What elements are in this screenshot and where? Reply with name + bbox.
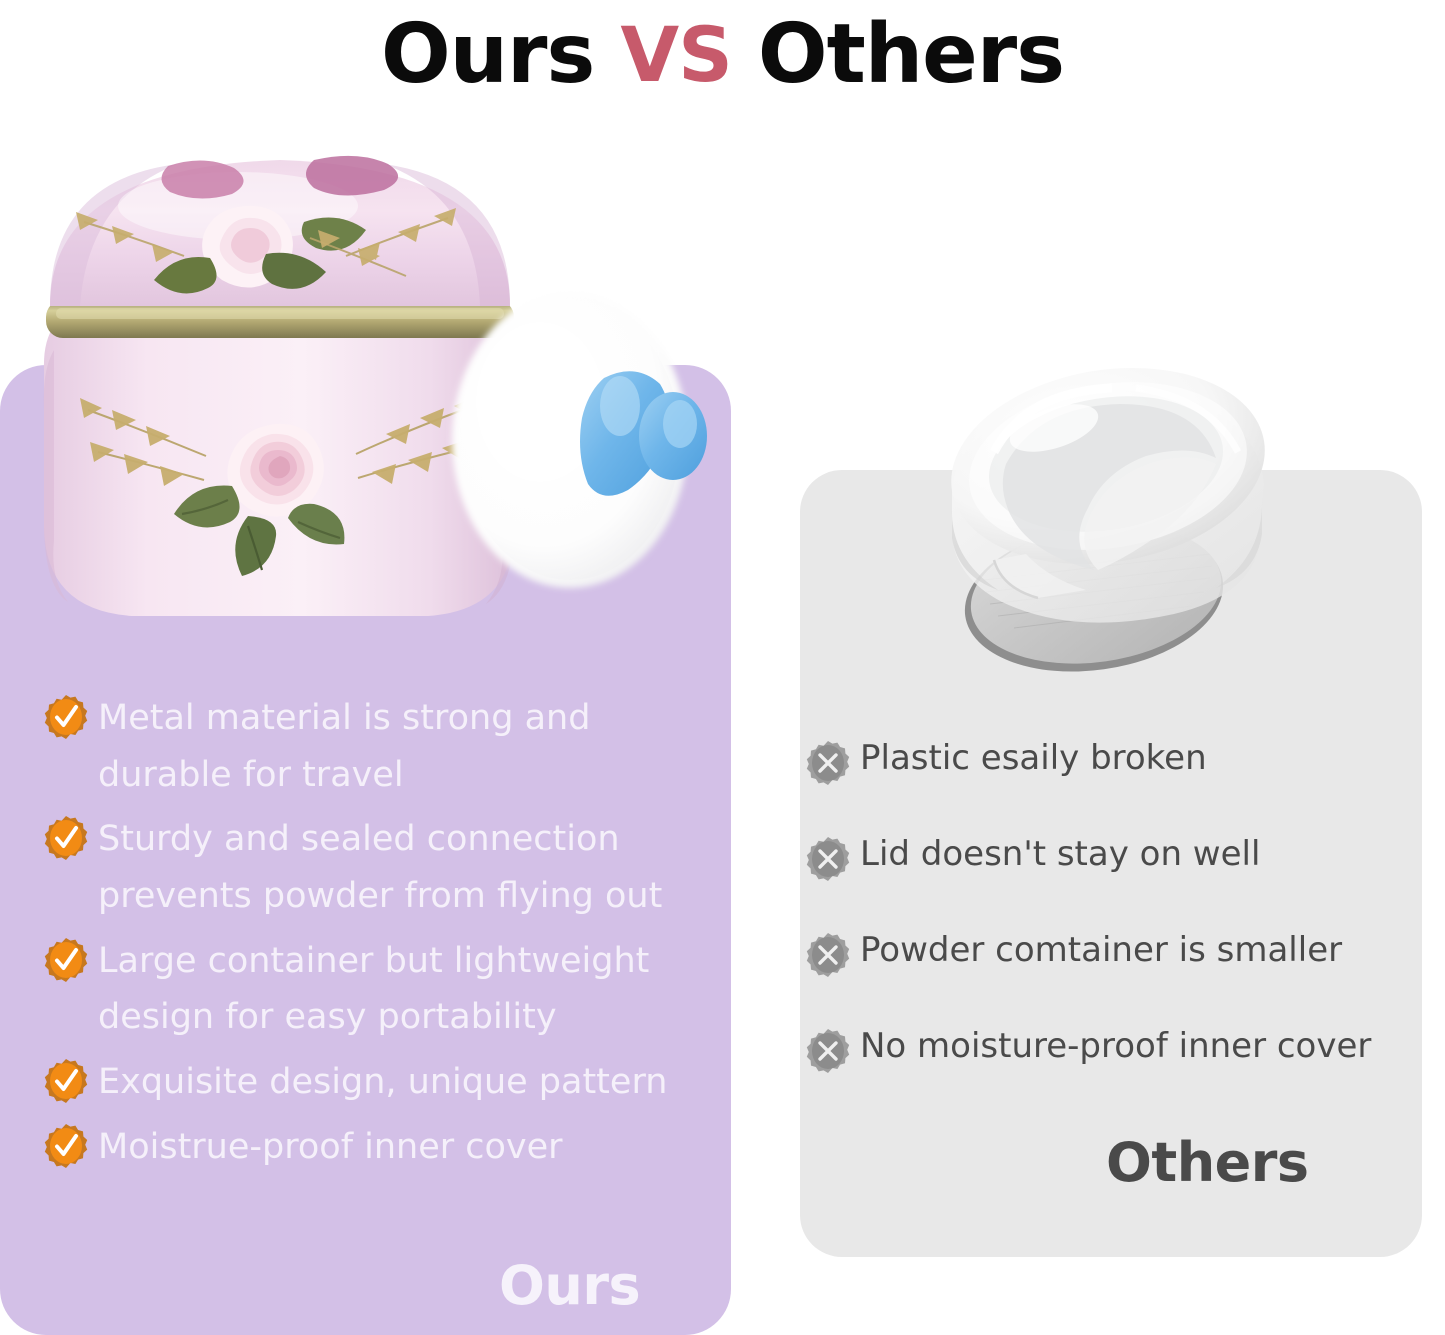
ours-brand-label: Ours [499,1254,640,1317]
cross-badge-icon [806,740,850,786]
product-image-others [898,348,1310,688]
list-item-label: Plastic esaily broken [860,736,1207,777]
list-item: Sturdy and sealed connection prevents po… [44,811,704,924]
title-word-others: Others [758,14,1064,96]
list-item-label: Sturdy and sealed connection prevents po… [98,811,662,924]
list-item: Lid doesn't stay on well [806,832,1406,882]
title-word-ours: Ours [381,14,594,96]
cross-badge-icon [806,1028,850,1074]
list-item-label: Lid doesn't stay on well [860,832,1260,873]
list-item-label: Exquisite design, unique pattern [98,1054,667,1111]
check-badge-icon [44,1058,88,1104]
cross-badge-icon [806,932,850,978]
list-item: Powder comtainer is smaller [806,928,1406,978]
list-item-label: No moisture-proof inner cover [860,1024,1371,1065]
list-item-label: Large container but lightweight design f… [98,933,649,1046]
others-feature-list: Plastic esaily broken Lid doesn't stay o… [806,736,1406,1120]
check-badge-icon [44,1123,88,1169]
list-item: Metal material is strong and durable for… [44,690,704,803]
list-item: Exquisite design, unique pattern [44,1054,704,1111]
list-item: Large container but lightweight design f… [44,933,704,1046]
title-word-vs: VS [620,17,732,93]
ours-feature-list: Metal material is strong and durable for… [44,690,704,1184]
others-brand-label: Others [1106,1131,1309,1194]
list-item: No moisture-proof inner cover [806,1024,1406,1074]
list-item-label: Powder comtainer is smaller [860,928,1342,969]
check-badge-icon [44,815,88,861]
list-item: Moistrue-proof inner cover [44,1119,704,1176]
check-badge-icon [44,937,88,983]
list-item-label: Metal material is strong and durable for… [98,690,590,803]
list-item-label: Moistrue-proof inner cover [98,1119,563,1176]
product-image-ours [28,110,728,650]
list-item: Plastic esaily broken [806,736,1406,786]
comparison-title: Ours VS Others [0,0,1445,110]
check-badge-icon [44,694,88,740]
cross-badge-icon [806,836,850,882]
